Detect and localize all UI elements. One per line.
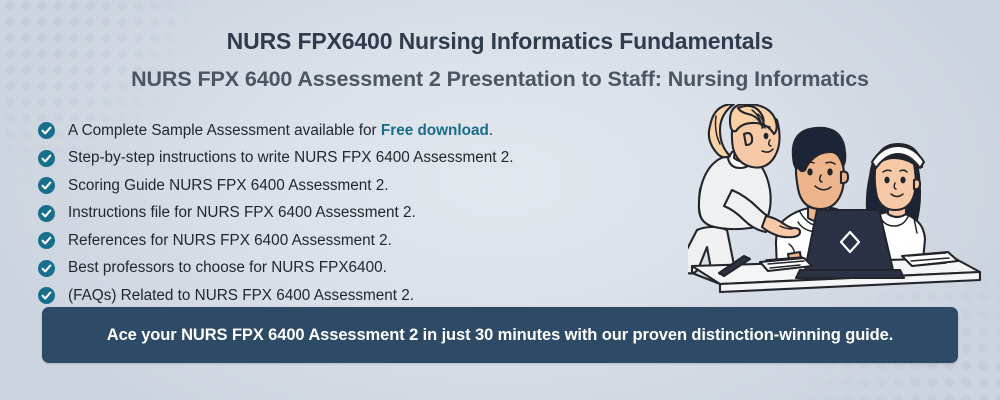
cta-banner[interactable]: Ace your NURS FPX 6400 Assessment 2 in j… bbox=[42, 307, 958, 363]
list-item-label: References for NURS FPX 6400 Assessment … bbox=[68, 231, 392, 251]
cta-text: Ace your NURS FPX 6400 Assessment 2 in j… bbox=[107, 324, 893, 346]
list-item: (FAQs) Related to NURS FPX 6400 Assessme… bbox=[38, 282, 658, 310]
list-item-label: Instructions file for NURS FPX 6400 Asse… bbox=[68, 203, 416, 223]
list-item: Scoring Guide NURS FPX 6400 Assessment 2… bbox=[38, 172, 658, 200]
list-item-label: A Complete Sample Assessment available f… bbox=[68, 121, 493, 141]
check-circle-icon bbox=[38, 232, 68, 249]
three-students-at-laptop-illustration: .ln { fill:none; stroke:#22252b; stroke-… bbox=[688, 104, 984, 296]
check-circle-icon bbox=[38, 260, 68, 277]
free-download-link[interactable]: Free download bbox=[381, 122, 489, 139]
page-subtitle: NURS FPX 6400 Assessment 2 Presentation … bbox=[0, 64, 1000, 94]
check-circle-icon bbox=[38, 205, 68, 222]
list-item: Best professors to choose for NURS FPX64… bbox=[38, 255, 658, 283]
promo-banner: NURS FPX6400 Nursing Informatics Fundame… bbox=[0, 0, 1000, 400]
list-item: A Complete Sample Assessment available f… bbox=[38, 117, 658, 145]
list-item: Step-by-step instructions to write NURS … bbox=[38, 145, 658, 173]
list-item-label: Best professors to choose for NURS FPX64… bbox=[68, 258, 387, 278]
check-circle-icon bbox=[38, 177, 68, 194]
check-circle-icon bbox=[38, 122, 68, 139]
list-item: References for NURS FPX 6400 Assessment … bbox=[38, 227, 658, 255]
feature-list: A Complete Sample Assessment available f… bbox=[38, 117, 658, 310]
illustration-svg: .ln { fill:none; stroke:#22252b; stroke-… bbox=[688, 104, 984, 296]
header-block: NURS FPX6400 Nursing Informatics Fundame… bbox=[0, 26, 1000, 94]
page-title: NURS FPX6400 Nursing Informatics Fundame… bbox=[0, 26, 1000, 56]
list-item-label: Step-by-step instructions to write NURS … bbox=[68, 148, 514, 168]
check-circle-icon bbox=[38, 150, 68, 167]
check-circle-icon bbox=[38, 287, 68, 304]
list-item-label: (FAQs) Related to NURS FPX 6400 Assessme… bbox=[68, 286, 414, 306]
list-item-label: Scoring Guide NURS FPX 6400 Assessment 2… bbox=[68, 176, 389, 196]
list-item: Instructions file for NURS FPX 6400 Asse… bbox=[38, 200, 658, 228]
